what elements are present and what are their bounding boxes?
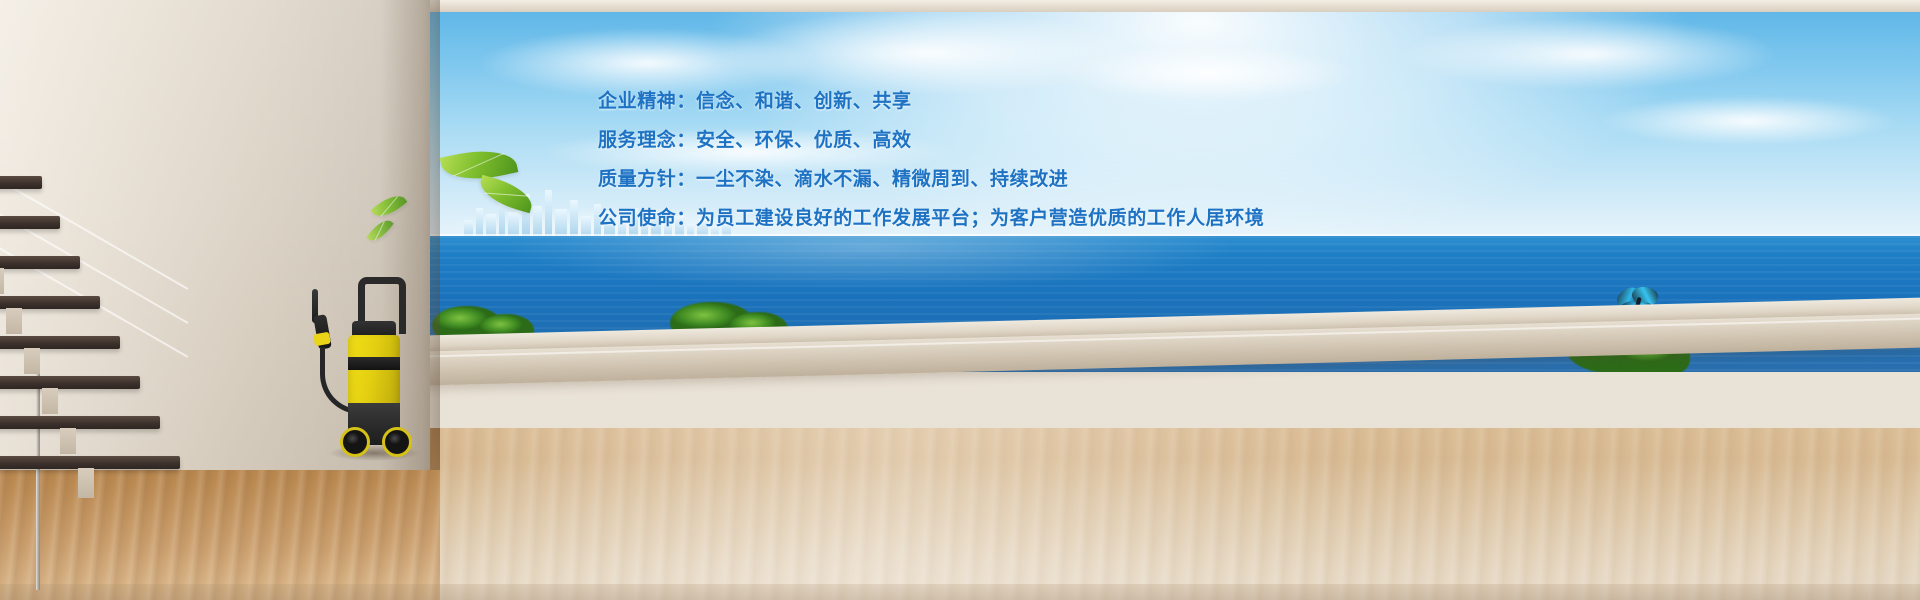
machine-body-band [348, 357, 400, 370]
stair-step [0, 216, 60, 229]
high-pressure-washer [306, 255, 424, 460]
window-frame-top [410, 0, 1920, 12]
company-culture-banner: 企业精神：信念、和谐、创新、共享 服务理念：安全、环保、优质、高效 质量方针：一… [0, 0, 1920, 600]
slogan-line-company-mission: 公司使命：为员工建设良好的工作发展平台；为客户营造优质的工作人居环境 [598, 209, 1358, 228]
machine-wheel [340, 427, 370, 457]
cloud [1598, 96, 1898, 146]
slogan-line-quality-policy: 质量方针：一尘不染、滴水不漏、精微周到、持续改进 [598, 170, 1358, 189]
cloud [1398, 18, 1778, 90]
machine-wheel [382, 427, 412, 457]
floating-wood-staircase [0, 140, 200, 470]
stair-step [0, 256, 80, 269]
stair-step [0, 376, 140, 389]
stair-step [0, 336, 120, 349]
slogan-block: 企业精神：信念、和谐、创新、共享 服务理念：安全、环保、优质、高效 质量方针：一… [598, 92, 1358, 228]
slogan-line-corporate-spirit: 企业精神：信念、和谐、创新、共享 [598, 92, 1358, 111]
floor-front-edge [0, 584, 1920, 600]
stair-step [0, 176, 42, 189]
slogan-line-service-philosophy: 服务理念：安全、环保、优质、高效 [598, 131, 1358, 150]
stair-step [0, 416, 160, 429]
